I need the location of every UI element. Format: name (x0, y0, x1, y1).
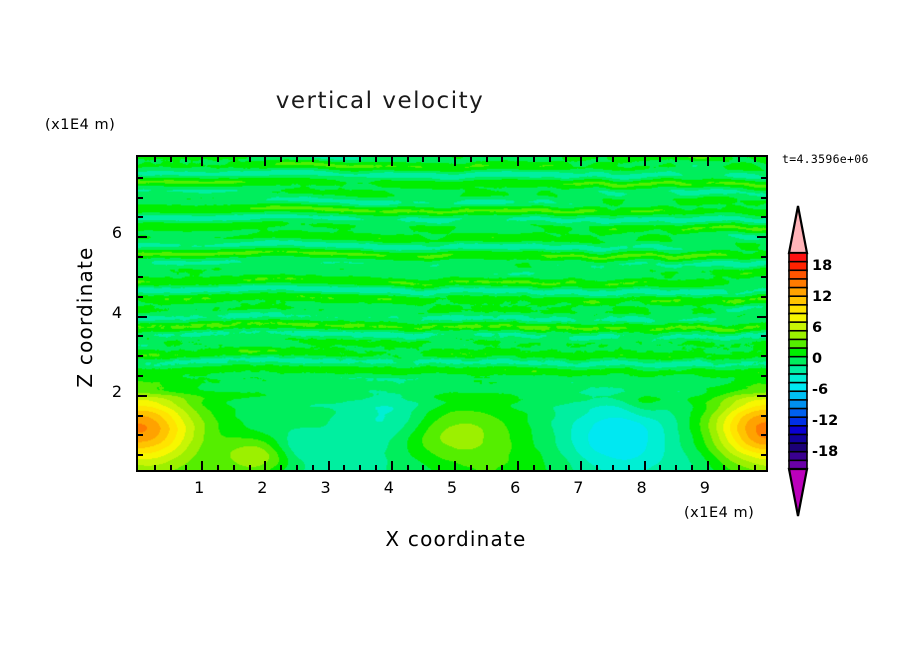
y-minor-tick-right (761, 335, 766, 337)
x-minor-tick (565, 465, 567, 470)
x-minor-tick-top (422, 157, 424, 162)
x-major-tick-top (517, 157, 519, 166)
y-major-tick-right (757, 316, 766, 318)
x-major-tick-top (264, 157, 266, 166)
x-minor-tick-top (170, 157, 172, 162)
x-axis-unit-label: (x1E4 m) (684, 505, 754, 521)
y-minor-tick-right (761, 256, 766, 258)
colorbar-tick-label: 12 (812, 289, 854, 305)
x-tick-label: 3 (311, 478, 341, 497)
y-minor-tick-right (761, 454, 766, 456)
x-minor-tick-top (154, 157, 156, 162)
x-major-tick (517, 461, 519, 470)
y-minor-tick (138, 434, 143, 436)
x-major-tick-top (707, 157, 709, 166)
contour-field-canvas (138, 157, 766, 470)
y-major-tick-right (757, 236, 766, 238)
x-minor-tick-top (249, 157, 251, 162)
x-minor-tick (185, 465, 187, 470)
y-minor-tick (138, 375, 143, 377)
x-minor-tick-top (549, 157, 551, 162)
y-tick-label: 2 (98, 382, 122, 401)
x-minor-tick (312, 465, 314, 470)
x-tick-label: 5 (437, 478, 467, 497)
y-axis-unit-label: (x1E4 m) (45, 117, 115, 133)
x-minor-tick-top (470, 157, 472, 162)
x-minor-tick-top (407, 157, 409, 162)
x-tick-label: 1 (184, 478, 214, 497)
y-minor-tick-right (761, 216, 766, 218)
x-minor-tick (628, 465, 630, 470)
x-tick-label: 7 (563, 478, 593, 497)
x-minor-tick-top (659, 157, 661, 162)
colorbar-under-arrow (789, 469, 807, 516)
y-minor-tick (138, 355, 143, 357)
y-minor-tick (138, 177, 143, 179)
y-minor-tick (138, 197, 143, 199)
x-minor-tick-top (343, 157, 345, 162)
x-tick-label: 9 (690, 478, 720, 497)
x-major-tick-top (644, 157, 646, 166)
x-minor-tick-top (723, 157, 725, 162)
x-minor-tick-top (233, 157, 235, 162)
colorbar-tick-label: 18 (812, 258, 854, 274)
x-tick-label: 8 (627, 478, 657, 497)
y-major-tick (138, 316, 147, 318)
y-minor-tick (138, 276, 143, 278)
x-minor-tick (375, 465, 377, 470)
x-minor-tick (738, 465, 740, 470)
x-minor-tick-top (501, 157, 503, 162)
y-minor-tick-right (761, 415, 766, 417)
x-minor-tick-top (754, 157, 756, 162)
x-minor-tick-top (628, 157, 630, 162)
y-tick-label: 4 (98, 303, 122, 322)
contour-plot-area (136, 155, 768, 472)
colorbar-tick-label: -12 (812, 413, 854, 429)
x-tick-label: 4 (374, 478, 404, 497)
x-axis-title: X coordinate (246, 527, 666, 551)
x-minor-tick (407, 465, 409, 470)
x-major-tick-top (454, 157, 456, 166)
y-minor-tick-right (761, 276, 766, 278)
x-minor-tick-top (675, 157, 677, 162)
x-minor-tick (249, 465, 251, 470)
x-minor-tick-top (533, 157, 535, 162)
x-major-tick (580, 461, 582, 470)
y-minor-tick (138, 216, 143, 218)
x-major-tick-top (201, 157, 203, 166)
y-major-tick (138, 236, 147, 238)
x-minor-tick (675, 465, 677, 470)
x-minor-tick (549, 465, 551, 470)
x-minor-tick-top (296, 157, 298, 162)
colorbar-tick-label: 0 (812, 351, 854, 367)
y-minor-tick (138, 296, 143, 298)
x-minor-tick (470, 465, 472, 470)
x-minor-tick (422, 465, 424, 470)
y-axis-title: Z coordinate (73, 207, 97, 427)
x-major-tick (264, 461, 266, 470)
x-minor-tick (691, 465, 693, 470)
x-major-tick (328, 461, 330, 470)
y-minor-tick-right (761, 296, 766, 298)
colorbar-svg (781, 205, 815, 517)
x-minor-tick (170, 465, 172, 470)
x-minor-tick (486, 465, 488, 470)
x-minor-tick (280, 465, 282, 470)
x-minor-tick (596, 465, 598, 470)
y-minor-tick-right (761, 355, 766, 357)
colorbar-over-arrow (789, 206, 807, 253)
x-minor-tick (359, 465, 361, 470)
x-minor-tick-top (217, 157, 219, 162)
x-major-tick (707, 461, 709, 470)
timestamp-annotation: t=4.3596e+06 (782, 152, 869, 166)
x-minor-tick-top (486, 157, 488, 162)
x-minor-tick (659, 465, 661, 470)
x-minor-tick (501, 465, 503, 470)
y-major-tick (138, 395, 147, 397)
y-minor-tick (138, 256, 143, 258)
x-minor-tick (296, 465, 298, 470)
y-minor-tick-right (761, 375, 766, 377)
x-major-tick (644, 461, 646, 470)
colorbar (781, 205, 815, 517)
x-minor-tick-top (612, 157, 614, 162)
x-tick-label: 2 (247, 478, 277, 497)
x-major-tick (201, 461, 203, 470)
x-minor-tick (612, 465, 614, 470)
x-minor-tick (217, 465, 219, 470)
y-minor-tick-right (761, 434, 766, 436)
y-minor-tick (138, 454, 143, 456)
x-minor-tick (754, 465, 756, 470)
x-minor-tick-top (565, 157, 567, 162)
y-minor-tick (138, 335, 143, 337)
x-minor-tick-top (359, 157, 361, 162)
colorbar-tick-label: -6 (812, 382, 854, 398)
x-major-tick-top (328, 157, 330, 166)
x-minor-tick (438, 465, 440, 470)
y-major-tick-right (757, 395, 766, 397)
colorbar-tick-label: -18 (812, 444, 854, 460)
x-minor-tick (723, 465, 725, 470)
y-tick-label: 6 (98, 223, 122, 242)
x-minor-tick-top (596, 157, 598, 162)
x-minor-tick-top (185, 157, 187, 162)
x-tick-label: 6 (500, 478, 530, 497)
y-minor-tick-right (761, 197, 766, 199)
x-minor-tick-top (691, 157, 693, 162)
x-minor-tick (343, 465, 345, 470)
x-minor-tick (533, 465, 535, 470)
y-minor-tick (138, 415, 143, 417)
x-major-tick (454, 461, 456, 470)
x-major-tick-top (391, 157, 393, 166)
x-minor-tick-top (438, 157, 440, 162)
x-minor-tick (233, 465, 235, 470)
x-major-tick-top (580, 157, 582, 166)
x-major-tick (391, 461, 393, 470)
x-minor-tick-top (280, 157, 282, 162)
x-minor-tick-top (738, 157, 740, 162)
colorbar-tick-label: 6 (812, 320, 854, 336)
x-minor-tick-top (312, 157, 314, 162)
y-minor-tick-right (761, 177, 766, 179)
chart-title: vertical velocity (0, 88, 760, 114)
x-minor-tick-top (375, 157, 377, 162)
x-minor-tick (154, 465, 156, 470)
